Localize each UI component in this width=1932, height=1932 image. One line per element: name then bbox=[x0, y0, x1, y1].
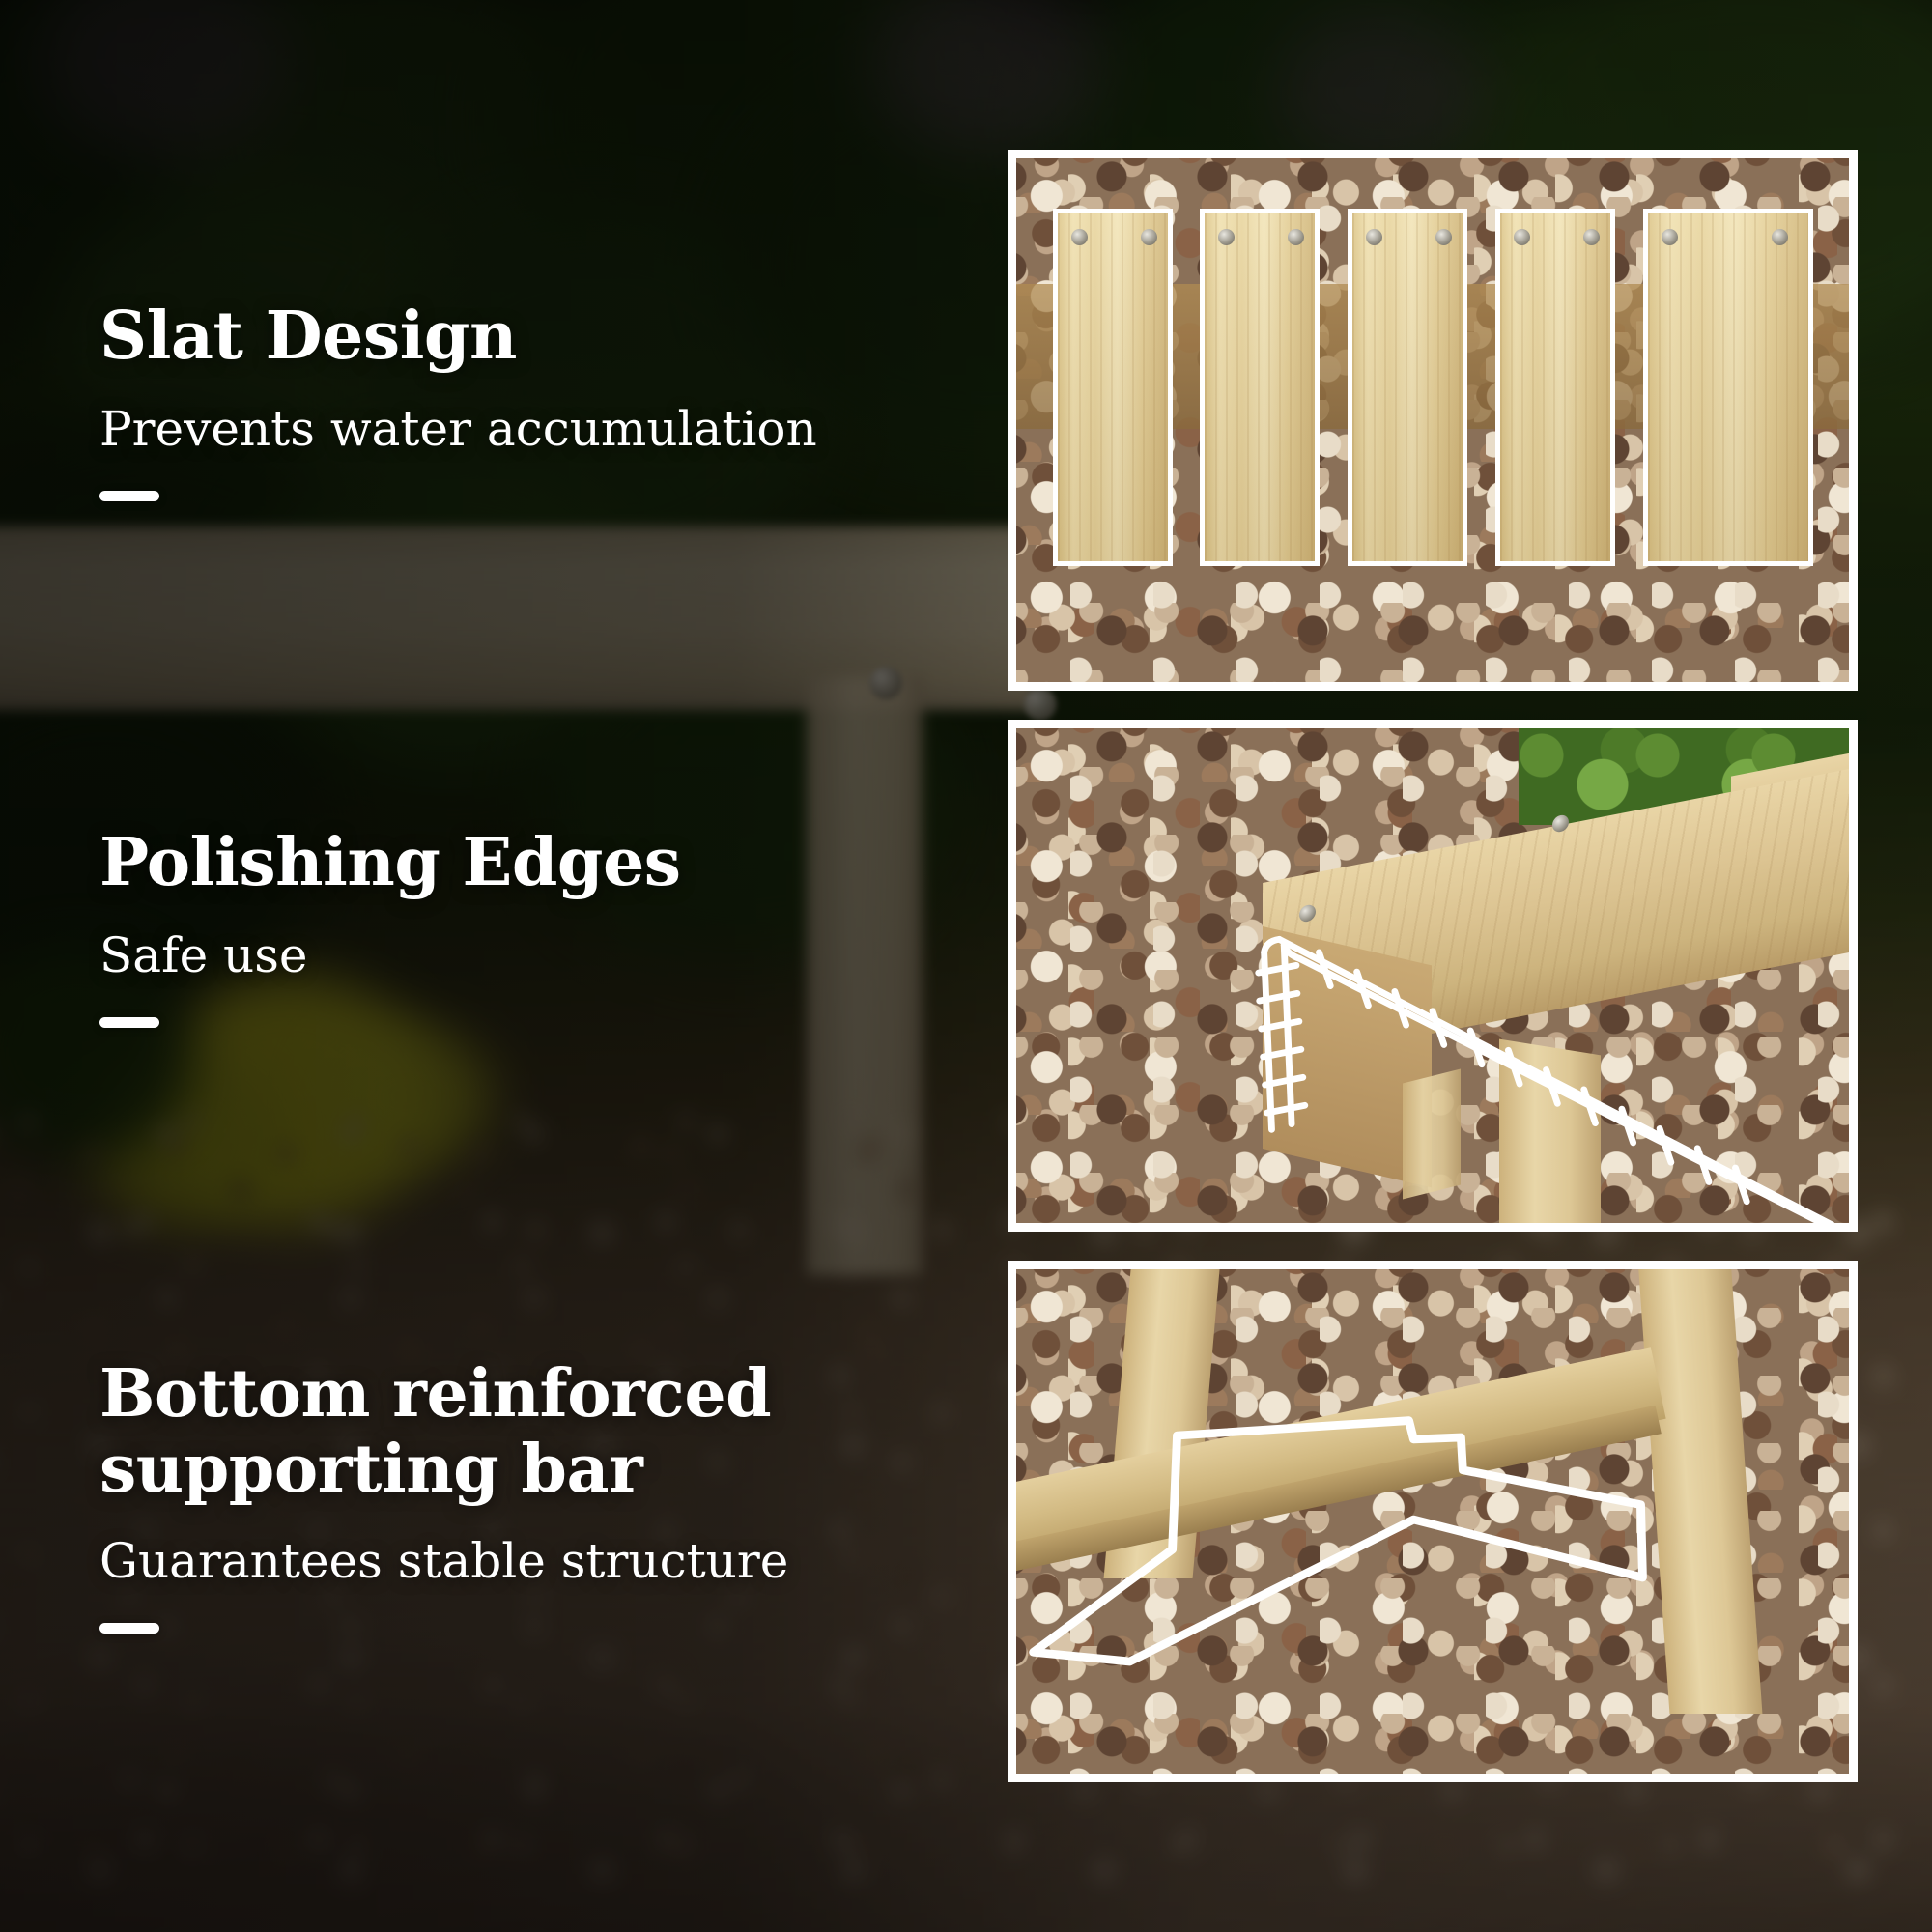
photo-panel-support-bar bbox=[1008, 1261, 1858, 1782]
screw-icon bbox=[1071, 229, 1088, 245]
feature-subtitle: Guarantees stable structure bbox=[99, 1532, 969, 1590]
screw-icon bbox=[1662, 229, 1678, 245]
screw-icon bbox=[1583, 229, 1600, 245]
feature-title: Bottom reinforced supporting bar bbox=[99, 1357, 969, 1507]
feature-divider-rule bbox=[99, 1017, 159, 1028]
polished-edge-annotation bbox=[1016, 728, 1849, 1223]
support-bar-outline-annotation bbox=[1016, 1269, 1849, 1774]
infographic-canvas: Slat Design Prevents water accumulation … bbox=[0, 0, 1932, 1932]
feature-list: Slat Design Prevents water accumulation … bbox=[0, 0, 985, 1932]
feature-subtitle: Safe use bbox=[99, 926, 969, 984]
photo-panel-content bbox=[1016, 1269, 1849, 1774]
screw-icon bbox=[1772, 229, 1788, 245]
screw-icon bbox=[1218, 229, 1235, 245]
feature-title: Slat Design bbox=[99, 299, 969, 375]
feature-block-polishing-edges: Polishing Edges Safe use bbox=[99, 826, 969, 1028]
screw-icon bbox=[1366, 229, 1382, 245]
screw-icon bbox=[1514, 229, 1530, 245]
wood-slat bbox=[1053, 209, 1173, 566]
photo-panel-slat-design bbox=[1008, 150, 1858, 691]
screw-icon bbox=[1435, 229, 1452, 245]
feature-block-bottom-reinforced-supporting-bar: Bottom reinforced supporting bar Guarant… bbox=[99, 1357, 969, 1634]
wood-slat bbox=[1348, 209, 1467, 566]
feature-title: Polishing Edges bbox=[99, 826, 969, 901]
photo-panel-polishing-edges bbox=[1008, 720, 1858, 1232]
feature-subtitle: Prevents water accumulation bbox=[99, 400, 969, 458]
feature-divider-rule bbox=[99, 1623, 159, 1634]
screw-icon bbox=[1288, 229, 1304, 245]
wood-slat bbox=[1495, 209, 1615, 566]
feature-divider-rule bbox=[99, 491, 159, 501]
panel-stack bbox=[1008, 0, 1858, 1932]
screw-icon bbox=[1141, 229, 1157, 245]
photo-panel-content bbox=[1016, 158, 1849, 682]
photo-panel-content bbox=[1016, 728, 1849, 1223]
wood-slat bbox=[1200, 209, 1320, 566]
wood-slat bbox=[1643, 209, 1813, 566]
feature-block-slat-design: Slat Design Prevents water accumulation bbox=[99, 299, 969, 501]
